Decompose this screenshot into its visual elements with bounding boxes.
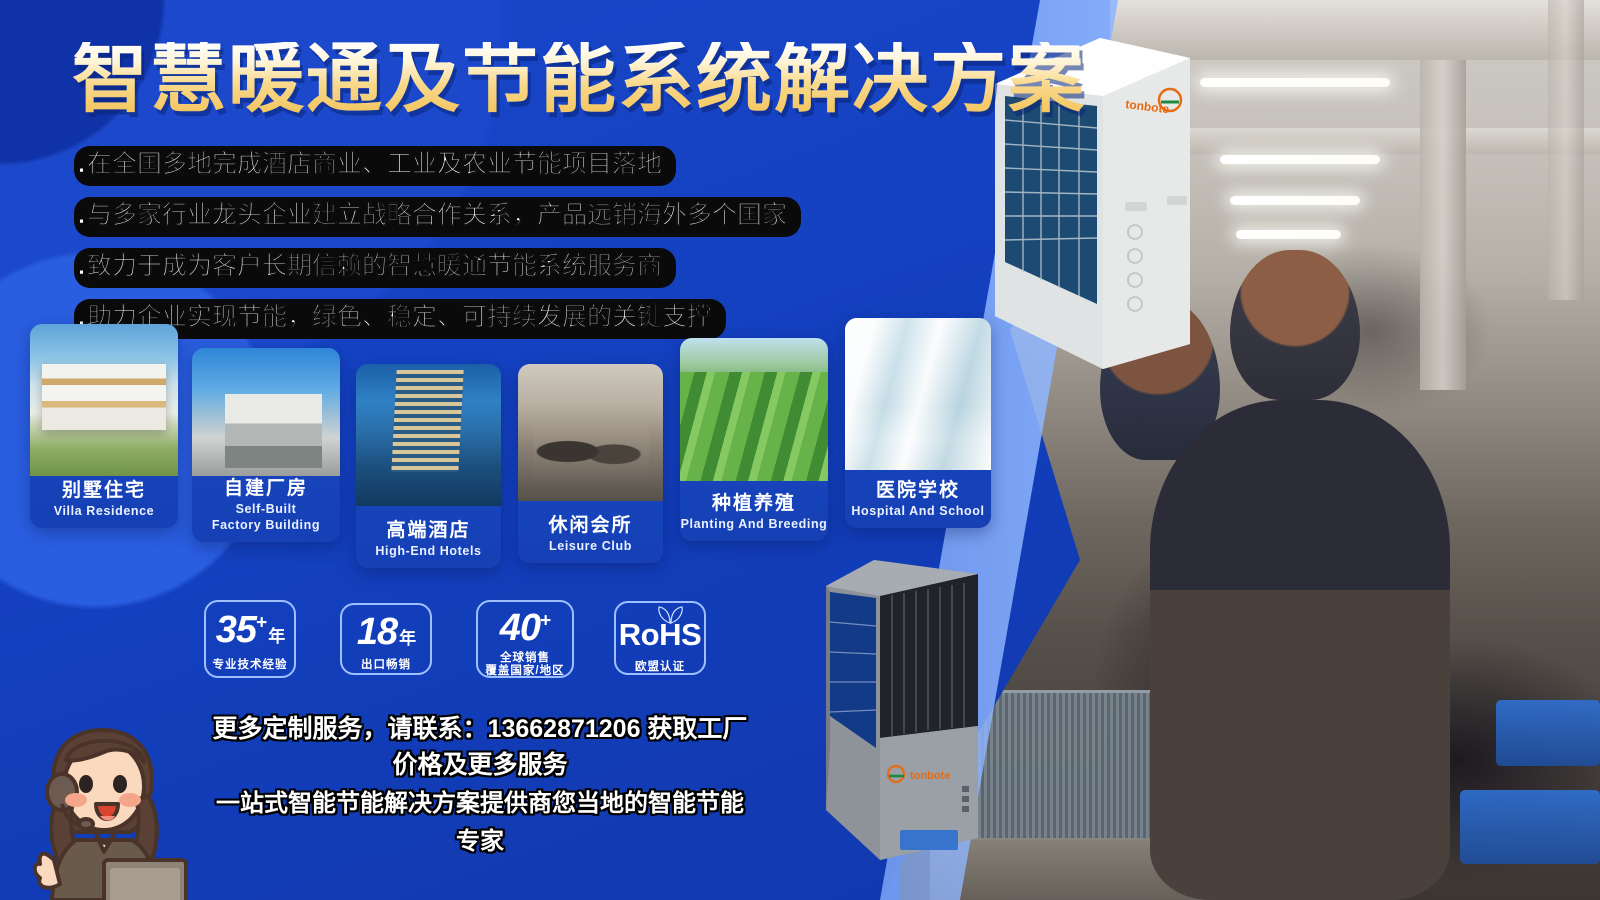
- scenario-title-cn: 高端酒店: [356, 519, 501, 543]
- scenario-title-en-line2: Factory Building: [192, 517, 340, 533]
- highlight-list: .在全国多地完成酒店商业、工业及农业节能项目落地 .与多家行业龙头企业建立战略合…: [74, 146, 801, 350]
- stat-plus: +: [540, 610, 550, 631]
- stat-badge-experience: 35+年 专业技术经验: [204, 600, 296, 678]
- list-item-label: 在全国多地完成酒店商业、工业及农业节能项目落地: [87, 150, 662, 178]
- stat-unit: 年: [399, 629, 415, 648]
- page-title: 智慧暖通及节能系统解决方案: [72, 42, 1086, 118]
- scenario-card-factory[interactable]: 自建厂房 Self-Built Factory Building: [192, 348, 340, 542]
- rohs-leaf-icon: [656, 606, 686, 624]
- scenario-title-en: High-End Hotels: [356, 543, 501, 559]
- contact-block: 更多定制服务，请联系：13662871206 获取工厂 价格及更多服务 一站式智…: [165, 712, 795, 859]
- scenario-card-hotel[interactable]: 高端酒店 High-End Hotels: [356, 364, 501, 568]
- scenario-title-en: Villa Residence: [30, 503, 178, 519]
- factory-pillar: [1548, 0, 1584, 300]
- list-item-label: 助力企业实现节能，绿色、稳定、可持续发展的关键支撑: [87, 303, 712, 331]
- stat-label: 欧盟认证: [616, 661, 704, 674]
- scenario-card-caption: 休闲会所 Leisure Club: [518, 514, 663, 563]
- villa-photo: [30, 324, 178, 476]
- stat-value: 18年: [342, 613, 430, 651]
- scenario-card-planting[interactable]: 种植养殖 Planting And Breeding: [680, 338, 828, 541]
- list-item-label: 致力于成为客户长期信赖的智慧暖通节能系统服务商: [87, 252, 662, 280]
- scenario-card-villa[interactable]: 别墅住宅 Villa Residence: [30, 324, 178, 528]
- contact-line-2: 价格及更多服务: [165, 748, 795, 784]
- list-item: .在全国多地完成酒店商业、工业及农业节能项目落地: [74, 146, 676, 186]
- stat-label: 专业技术经验: [206, 659, 294, 672]
- stat-label-line2: 覆盖国家/地区: [478, 665, 572, 678]
- factory-photo: [192, 348, 340, 476]
- stat-value: 35+年: [206, 611, 294, 649]
- scenario-title-en: Leisure Club: [518, 538, 663, 554]
- parts-bin: [1496, 700, 1600, 766]
- heat-pump-unit-bottom: tonbote: [800, 538, 985, 863]
- stat-unit: 年: [268, 627, 284, 646]
- stat-label-line1: 全球销售: [478, 652, 572, 665]
- hospital-photo: [845, 318, 991, 470]
- contact-line-4: 专家: [165, 825, 795, 859]
- heat-pump-unit-icon: tonbote: [800, 538, 985, 863]
- ceiling-light: [1200, 78, 1390, 87]
- contact-line-3: 一站式智能节能解决方案提供商您当地的智能节能: [165, 787, 795, 821]
- scenario-title-cn: 自建厂房: [192, 477, 340, 501]
- scenario-card-hospital[interactable]: 医院学校 Hospital And School: [845, 318, 991, 528]
- stat-badge-rohs: RoHS 欧盟认证: [614, 601, 706, 675]
- bullet-dot: .: [78, 152, 85, 177]
- scenario-title-cn: 别墅住宅: [30, 479, 178, 503]
- stat-badge-export: 18年 出口畅销: [340, 603, 432, 675]
- scenario-card-caption: 高端酒店 High-End Hotels: [356, 519, 501, 568]
- stat-label: 出口畅销: [342, 659, 430, 672]
- scenario-title-cn: 医院学校: [845, 479, 991, 503]
- svg-text:tonbote: tonbote: [910, 770, 950, 782]
- stat-value: 40+: [478, 609, 572, 647]
- bullet-dot: .: [78, 203, 85, 228]
- scenario-card-club[interactable]: 休闲会所 Leisure Club: [518, 364, 663, 563]
- promo-banner: tonbote: [0, 0, 1600, 900]
- scenario-card-caption: 种植养殖 Planting And Breeding: [680, 492, 828, 541]
- scenario-card-caption: 自建厂房 Self-Built Factory Building: [192, 477, 340, 542]
- list-item: .与多家行业龙头企业建立战略合作关系，产品远销海外多个国家: [74, 197, 801, 237]
- scenario-title-cn: 休闲会所: [518, 514, 663, 538]
- factory-pillar: [1420, 60, 1466, 390]
- factory-worker: [1230, 250, 1360, 400]
- stat-plus: +: [256, 612, 266, 633]
- parts-bin: [1460, 790, 1600, 864]
- scenario-title-en: Hospital And School: [845, 503, 991, 519]
- factory-worker: [1150, 400, 1450, 900]
- scenario-card-caption: 别墅住宅 Villa Residence: [30, 479, 178, 528]
- contact-line-1: 更多定制服务，请联系：13662871206 获取工厂: [165, 712, 795, 748]
- ceiling-light: [1236, 230, 1341, 239]
- hotel-photo: [356, 364, 501, 506]
- ceiling-light: [1230, 196, 1360, 205]
- club-photo: [518, 364, 663, 501]
- stat-badge-countries: 40+ 全球销售 覆盖国家/地区: [476, 600, 574, 678]
- bullet-dot: .: [78, 254, 85, 279]
- scenario-card-caption: 医院学校 Hospital And School: [845, 479, 991, 528]
- list-item-label: 与多家行业龙头企业建立战略合作关系，产品远销海外多个国家: [87, 201, 787, 229]
- scenario-title-cn: 种植养殖: [680, 492, 828, 516]
- scenario-title-en: Planting And Breeding: [680, 516, 828, 532]
- list-item: .致力于成为客户长期信赖的智慧暖通节能系统服务商: [74, 248, 676, 288]
- planting-photo: [680, 338, 828, 481]
- ceiling-light: [1220, 155, 1380, 164]
- scenario-title-en-line1: Self-Built: [192, 501, 340, 517]
